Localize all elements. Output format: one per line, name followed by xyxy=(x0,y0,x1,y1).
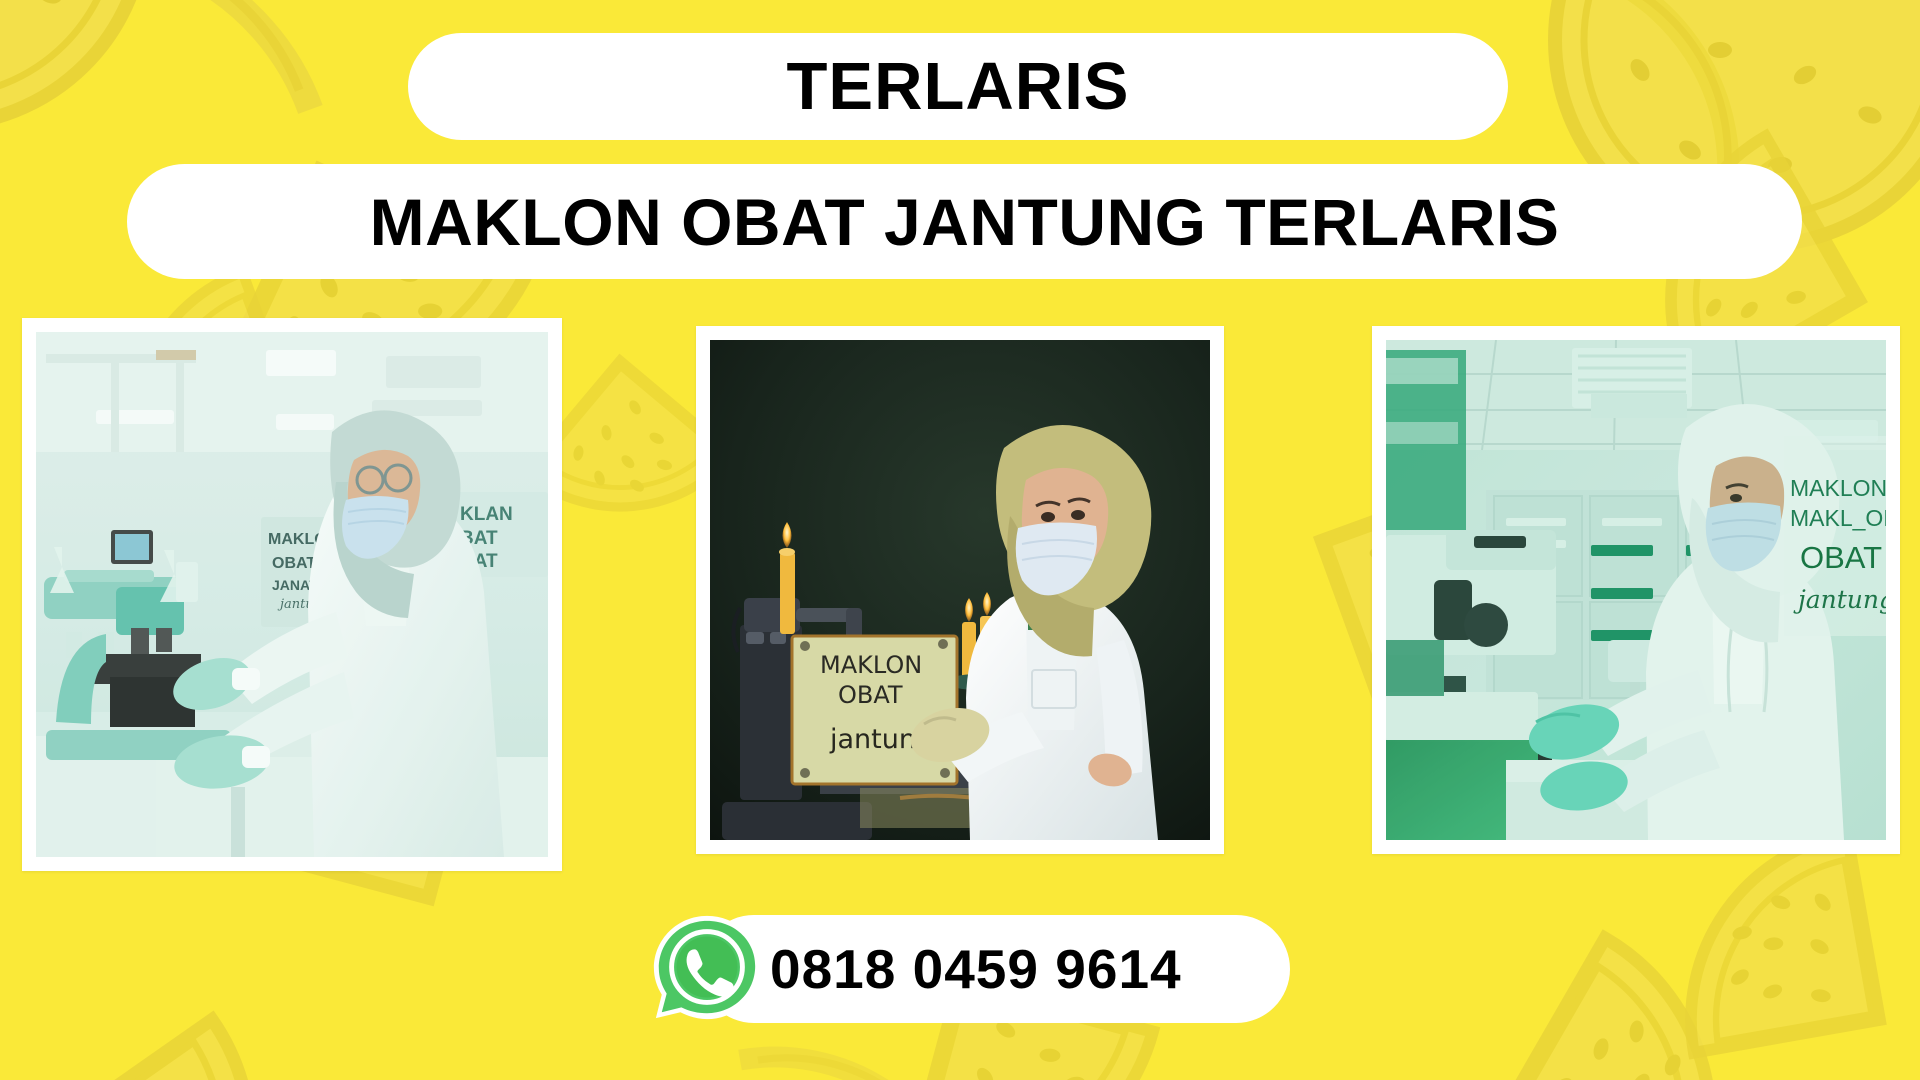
photo-sign-maklon-obat-jantung: MAKLON OBAT jantung xyxy=(710,340,1210,840)
badge-terlaris-label: TERLARIS xyxy=(787,53,1130,120)
whatsapp-icon[interactable] xyxy=(648,910,766,1028)
page-title-text: MAKLON OBAT JANTUNG TERLARIS xyxy=(370,189,1560,255)
svg-text:OBAT: OBAT xyxy=(838,681,903,709)
photo-gallery: MAKLON OBAT JANATT jantung KLAN BAT BAT xyxy=(0,318,1920,878)
photo-frame-3: MAKLON MAKL_ON OBAT jantung xyxy=(1372,326,1900,854)
svg-text:MAKLON: MAKLON xyxy=(820,651,922,679)
photo-frame-1: MAKLON OBAT JANATT jantung KLAN BAT BAT xyxy=(22,318,562,871)
whatsapp-phone-number[interactable]: 0818 0459 9614 xyxy=(770,915,1182,1023)
page-title: MAKLON OBAT JANTUNG TERLARIS xyxy=(127,164,1802,279)
photo-lab-microscope: MAKLON OBAT JANATT jantung KLAN BAT BAT xyxy=(36,332,548,857)
photo-frame-2: MAKLON OBAT jantung xyxy=(696,326,1224,854)
badge-terlaris: TERLARIS xyxy=(408,33,1508,140)
photo-green-lab: MAKLON MAKL_ON OBAT jantung xyxy=(1386,340,1886,840)
poster-canvas: TERLARIS MAKLON OBAT JANTUNG TERLARIS xyxy=(0,0,1920,1080)
